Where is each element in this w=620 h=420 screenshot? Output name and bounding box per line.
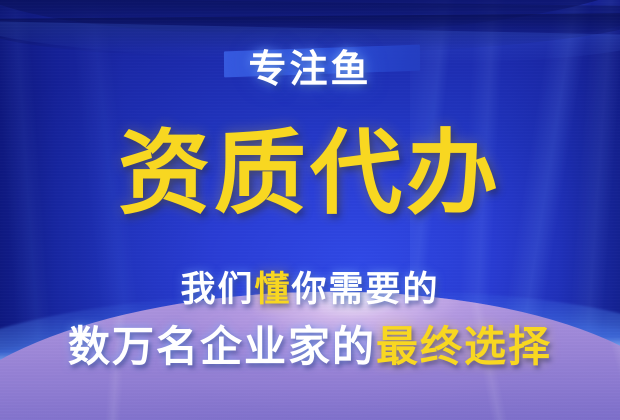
subline-primary-part-2: 你需要的	[292, 270, 440, 309]
headline-text: 资质代办	[0, 128, 620, 220]
subline-primary-highlight: 懂	[254, 270, 291, 309]
subline-secondary: 数万名企业家的最终选择	[0, 326, 620, 368]
subline-primary: 我们懂你需要的	[0, 272, 620, 307]
promo-banner: 专注鱼 资质代办 我们懂你需要的 数万名企业家的最终选择	[0, 0, 620, 420]
subline-primary-part-1: 我们	[180, 270, 254, 309]
poster-content: 专注鱼 资质代办 我们懂你需要的 数万名企业家的最终选择	[0, 0, 620, 420]
brand-eyebrow-text: 专注鱼	[0, 51, 620, 89]
subline-secondary-part-1: 数万名企业家的	[68, 323, 376, 370]
subline-secondary-highlight: 最终选择	[376, 323, 552, 370]
